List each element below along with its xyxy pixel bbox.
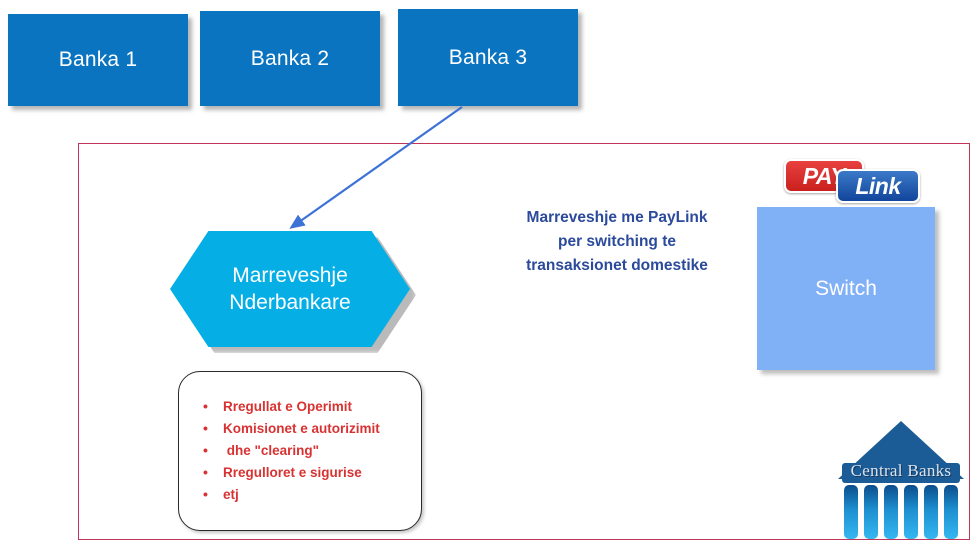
list-item: Komisionet e autorizimit [201, 418, 421, 440]
bank-column [844, 485, 858, 539]
paylink-link-chip: Link [836, 169, 920, 203]
bank-box-2-label: Banka 2 [251, 47, 329, 71]
switch-label: Switch [815, 277, 877, 301]
bank-box-1-label: Banka 1 [59, 48, 137, 72]
bank-box-3-label: Banka 3 [449, 46, 527, 70]
paylink-link-text: Link [855, 173, 900, 200]
caption-line-1: Marreveshje me PayLink [486, 206, 748, 230]
diagram-canvas: Banka 1 Banka 2 Banka 3 Marreveshje Nder… [0, 0, 980, 548]
list-item: dhe "clearing" [201, 440, 421, 462]
bank-column [944, 485, 958, 539]
central-bank-logo: Central Banks [838, 421, 964, 539]
bank-box-1[interactable]: Banka 1 [8, 14, 188, 106]
caption-line-2: per switching te [486, 230, 748, 254]
caption-line-3: transaksionet domestike [486, 254, 748, 278]
interbank-agreement-hexagon[interactable]: Marreveshje Nderbankare [170, 231, 410, 347]
list-item: Rregulloret e sigurise [201, 462, 421, 484]
bank-box-3[interactable]: Banka 3 [398, 9, 578, 106]
bank-box-2[interactable]: Banka 2 [200, 11, 380, 106]
paylink-agreement-caption: Marreveshje me PayLink per switching te … [486, 206, 748, 278]
rules-callout-box: Rregullat e Operimit Komisionet e autori… [178, 371, 422, 531]
switch-box[interactable]: Switch [757, 207, 935, 370]
bank-column [864, 485, 878, 539]
central-bank-name: Central Banks [838, 461, 964, 481]
bank-columns-icon [844, 485, 958, 539]
hexagon-body: Marreveshje Nderbankare [170, 231, 410, 347]
bank-column [904, 485, 918, 539]
hexagon-line-1: Marreveshje [232, 262, 348, 289]
paylink-logo: PAY Link [784, 159, 920, 203]
rules-list: Rregullat e Operimit Komisionet e autori… [179, 372, 421, 506]
bank-column [884, 485, 898, 539]
hexagon-line-2: Nderbankare [229, 289, 350, 316]
list-item: etj [201, 484, 421, 506]
list-item: Rregullat e Operimit [201, 396, 421, 418]
bank-column [924, 485, 938, 539]
